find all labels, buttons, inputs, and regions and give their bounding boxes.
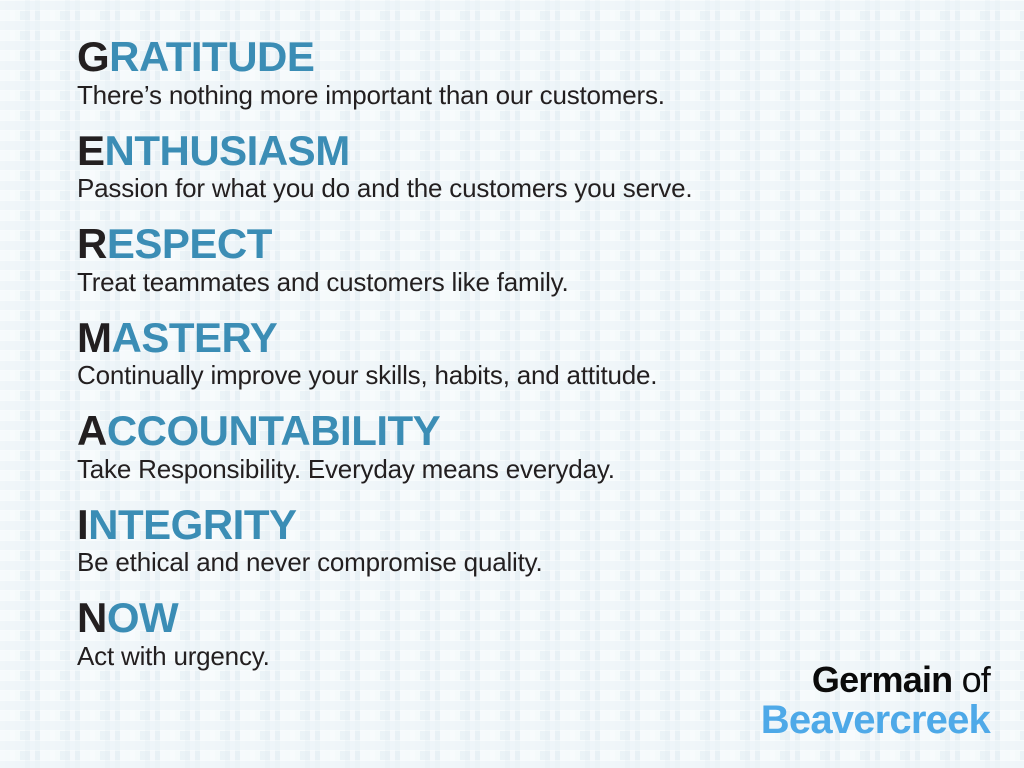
logo-connector-word: of — [962, 659, 990, 700]
value-block-gratitude: GRATITUDE There’s nothing more important… — [77, 36, 977, 111]
value-heading-now: NOW — [77, 597, 977, 640]
value-description-enthusiasm: Passion for what you do and the customer… — [77, 173, 977, 204]
value-block-mastery: MASTERY Continually improve your skills,… — [77, 317, 977, 392]
value-block-respect: RESPECT Treat teammates and customers li… — [77, 223, 977, 298]
value-initial-letter: I — [77, 501, 88, 548]
value-heading-remainder: NTHUSIASM — [105, 127, 350, 174]
value-initial-letter: A — [77, 407, 107, 454]
value-initial-letter: E — [77, 127, 105, 174]
dealership-logo: Germain of Beavercreek — [761, 662, 990, 740]
value-heading-remainder: ASTERY — [112, 314, 278, 361]
value-heading-remainder: NTEGRITY — [88, 501, 296, 548]
logo-line-primary: Germain of — [761, 662, 990, 698]
logo-brand-name: Germain — [812, 659, 952, 700]
value-block-enthusiasm: ENTHUSIASM Passion for what you do and t… — [77, 130, 977, 205]
value-heading-integrity: INTEGRITY — [77, 504, 977, 547]
value-heading-enthusiasm: ENTHUSIASM — [77, 130, 977, 173]
value-block-integrity: INTEGRITY Be ethical and never compromis… — [77, 504, 977, 579]
value-initial-letter: R — [77, 220, 107, 267]
value-initial-letter: G — [77, 33, 109, 80]
value-heading-remainder: OW — [107, 594, 178, 641]
value-heading-accountability: ACCOUNTABILITY — [77, 410, 977, 453]
value-description-integrity: Be ethical and never compromise quality. — [77, 547, 977, 578]
value-heading-gratitude: GRATITUDE — [77, 36, 977, 79]
value-heading-remainder: ESPECT — [107, 220, 272, 267]
value-heading-respect: RESPECT — [77, 223, 977, 266]
values-poster: GRATITUDE There’s nothing more important… — [0, 0, 1024, 768]
logo-location-name: Beavercreek — [761, 700, 990, 740]
value-heading-remainder: RATITUDE — [109, 33, 314, 80]
value-description-gratitude: There’s nothing more important than our … — [77, 80, 977, 111]
value-block-accountability: ACCOUNTABILITY Take Responsibility. Ever… — [77, 410, 977, 485]
value-description-mastery: Continually improve your skills, habits,… — [77, 360, 977, 391]
value-heading-remainder: CCOUNTABILITY — [107, 407, 440, 454]
value-description-accountability: Take Responsibility. Everyday means ever… — [77, 454, 977, 485]
value-description-respect: Treat teammates and customers like famil… — [77, 267, 977, 298]
core-values-list: GRATITUDE There’s nothing more important… — [77, 36, 977, 672]
value-initial-letter: N — [77, 594, 107, 641]
value-heading-mastery: MASTERY — [77, 317, 977, 360]
value-initial-letter: M — [77, 314, 112, 361]
